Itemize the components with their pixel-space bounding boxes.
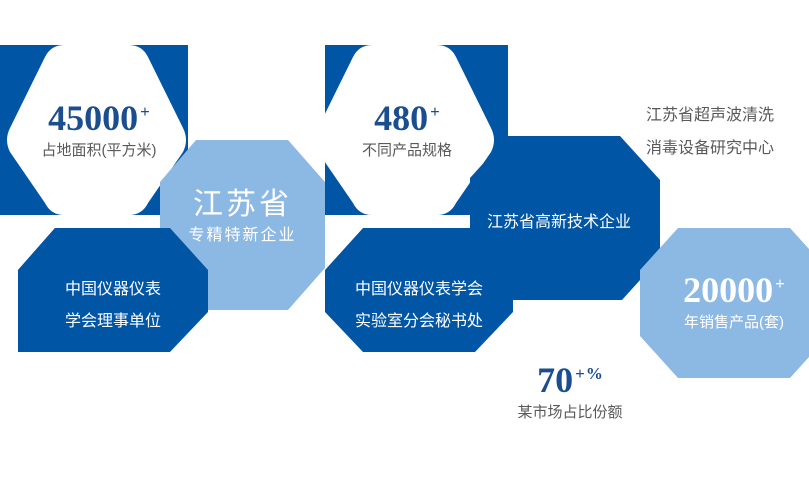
- infographic-canvas: 45000+ 占地面积(平方米) 480+ 不同产品规格 江苏省超声波清洗 消毒…: [0, 0, 809, 487]
- specs-value-row: 480+: [318, 100, 496, 136]
- lab-secretariat-line2: 实验室分会秘书处: [325, 314, 513, 330]
- lab-secretariat-badge: 中国仪器仪表学会 实验室分会秘书处: [325, 282, 513, 330]
- market-share-value: 70: [537, 360, 573, 400]
- specs-superscript: +: [430, 102, 440, 121]
- area-caption: 占地面积(平方米): [10, 143, 188, 158]
- area-stat: 45000+ 占地面积(平方米): [10, 100, 188, 158]
- market-share-stat: 70+% 某市场占比份额: [480, 362, 660, 420]
- research-center-badge: 江苏省超声波清洗 消毒设备研究中心: [646, 108, 774, 157]
- annual-sales-value: 20000: [683, 270, 773, 310]
- jiangsu-specialized-title: 江苏省: [160, 190, 325, 220]
- hexagon-shape-layer: [0, 0, 809, 487]
- research-center-line1: 江苏省超声波清洗: [646, 108, 774, 124]
- specs-value: 480: [374, 98, 428, 138]
- market-share-value-row: 70+%: [480, 362, 660, 398]
- jiangsu-specialized-subtitle: 专精特新企业: [160, 228, 325, 244]
- area-superscript: +: [140, 102, 150, 121]
- annual-sales-value-row: 20000+: [640, 272, 809, 308]
- annual-sales-superscript: +: [775, 274, 785, 293]
- area-value: 45000: [48, 98, 138, 138]
- instrument-council-line2: 学会理事单位: [18, 314, 208, 330]
- instrument-council-badge: 中国仪器仪表 学会理事单位: [18, 282, 208, 330]
- specs-stat: 480+ 不同产品规格: [318, 100, 496, 158]
- market-share-caption: 某市场占比份额: [480, 405, 660, 420]
- area-value-row: 45000+: [10, 100, 188, 136]
- market-share-unit: %: [586, 364, 603, 383]
- instrument-council-line1: 中国仪器仪表: [18, 282, 208, 298]
- lab-secretariat-line1: 中国仪器仪表学会: [325, 282, 513, 298]
- jiangsu-specialized-badge: 江苏省 专精特新企业: [160, 190, 325, 244]
- specs-caption: 不同产品规格: [318, 143, 496, 158]
- annual-sales-stat: 20000+ 年销售产品(套): [640, 272, 809, 330]
- annual-sales-caption: 年销售产品(套): [640, 315, 809, 330]
- market-share-superscript: +: [575, 364, 585, 383]
- research-center-line2: 消毒设备研究中心: [646, 141, 774, 157]
- high-tech-badge: 江苏省高新技术企业: [487, 215, 631, 231]
- high-tech-label: 江苏省高新技术企业: [487, 214, 631, 231]
